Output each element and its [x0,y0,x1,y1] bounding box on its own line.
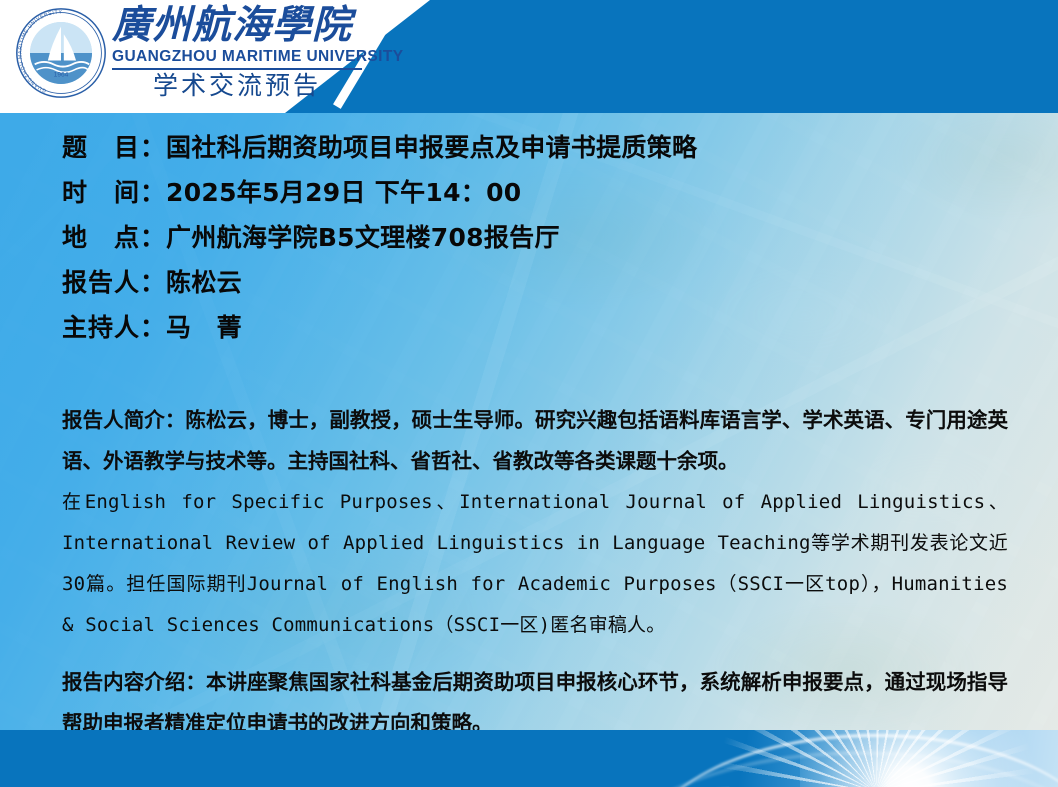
info-label-location: 地 点： [62,218,166,254]
svg-text:廣州航海學院: 廣州航海學院 [14,6,21,8]
sunburst-core-icon [800,730,1058,787]
university-emblem-icon: 1964 GUANGZHOU MARITIME UNIVERSITY 廣州航海學… [14,6,108,100]
info-value-time: 2025年5月29日 下午14：00 [166,173,521,209]
university-name-cn: 廣州航海學院 [112,4,382,48]
info-row-host: 主持人： 马 菁 [62,308,1012,353]
info-value-speaker: 陈松云 [166,263,242,299]
info-row-topic: 题 目： 国社科后期资助项目申报要点及申请书提质策略 [62,128,1012,173]
poster-header: 1964 GUANGZHOU MARITIME UNIVERSITY 廣州航海學… [0,0,1058,113]
poster-footer [0,730,1058,787]
info-label-host: 主持人： [62,308,166,344]
banner-subtitle: 学术交流预告 [112,73,362,101]
speaker-bio-paragraph-journals: 在English for Specific Purposes、Internati… [62,482,1008,646]
info-label-speaker: 报告人： [62,263,166,299]
lecture-body-block: 报告人简介：陈松云，博士，副教授，硕士生导师。研究兴趣包括语料库语言学、学术英语… [62,400,1008,744]
info-label-topic: 题 目： [62,128,166,164]
info-label-time: 时 间： [62,173,166,209]
speaker-bio-paragraph-cn: 报告人简介：陈松云，博士，副教授，硕士生导师。研究兴趣包括语料库语言学、学术英语… [62,400,1008,482]
info-row-location: 地 点： 广州航海学院B5文理楼708报告厅 [62,218,1012,263]
wordmark-divider [112,68,362,70]
lecture-info-block: 题 目： 国社科后期资助项目申报要点及申请书提质策略 时 间： 2025年5月2… [62,128,1012,353]
info-row-time: 时 间： 2025年5月29日 下午14：00 [62,173,1012,218]
university-wordmark: 廣州航海學院 GUANGZHOU MARITIME UNIVERSITY 学术交… [112,4,382,101]
info-row-speaker: 报告人： 陈松云 [62,263,1012,308]
info-value-location: 广州航海学院B5文理楼708报告厅 [166,218,560,254]
svg-text:1964: 1964 [54,72,69,79]
info-value-host: 马 菁 [166,308,242,344]
university-name-en: GUANGZHOU MARITIME UNIVERSITY [112,48,382,66]
info-value-topic: 国社科后期资助项目申报要点及申请书提质策略 [166,128,697,164]
academic-lecture-poster: 1964 GUANGZHOU MARITIME UNIVERSITY 廣州航海學… [0,0,1058,787]
